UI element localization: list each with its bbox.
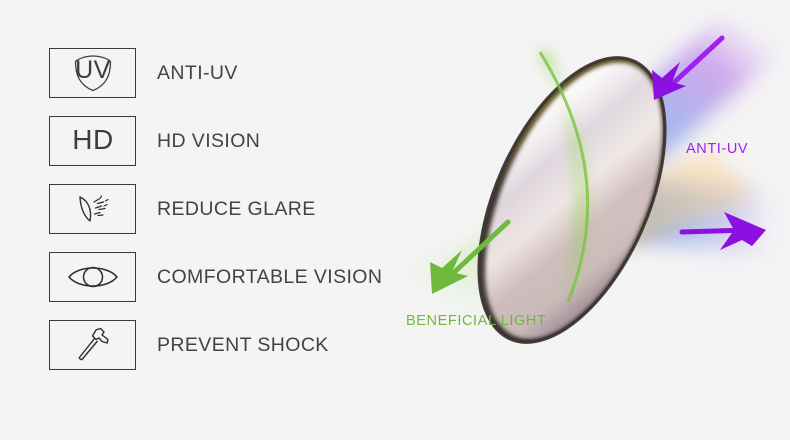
hd-text-icon: HD [49,116,136,166]
feature-label-comfortable-vision: COMFORTABLE VISION [157,266,382,289]
lens-light-graphic [390,0,790,440]
coated-lens-light-diagram: ANTI-UV BENEFICIAL LIGHT [390,0,790,440]
feature-label-hd-vision: HD VISION [157,130,260,153]
lens-feature-infographic: UV ANTI-UV HD HD VISION RED [0,0,790,440]
hammer-icon [49,320,136,370]
glare-reduce-icon [49,184,136,234]
hd-icon-text: HD [72,124,113,155]
uv-icon-text: UV [75,56,111,84]
feature-label-prevent-shock: PREVENT SHOCK [157,334,329,357]
anti-uv-beam-label: ANTI-UV [686,141,748,157]
beneficial-light-beam-label: BENEFICIAL LIGHT [406,313,546,329]
eye-icon [49,252,136,302]
feature-label-anti-uv: ANTI-UV [157,62,238,85]
uv-shield-icon: UV [49,48,136,98]
feature-label-reduce-glare: REDUCE GLARE [157,198,316,221]
